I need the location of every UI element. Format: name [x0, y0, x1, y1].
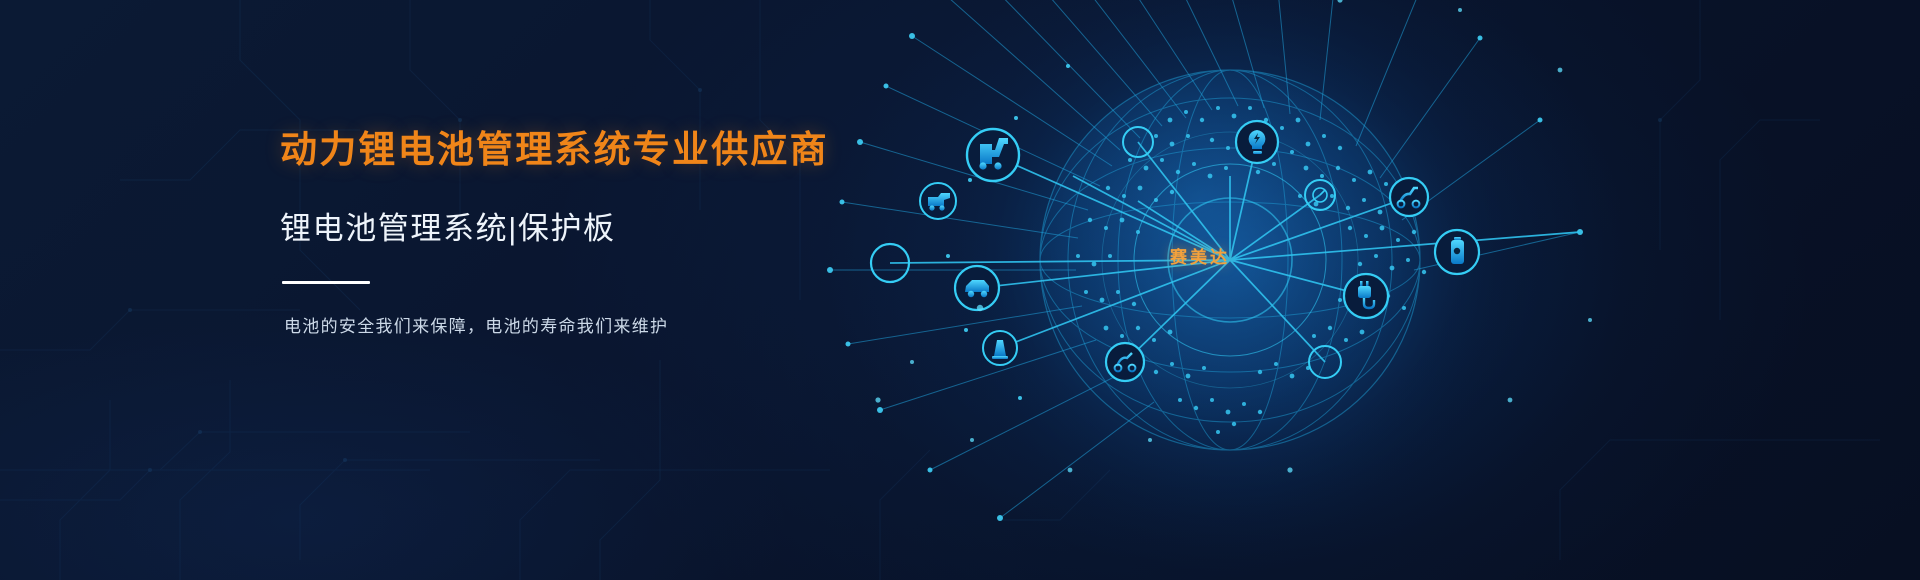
forklift-icon — [920, 183, 956, 219]
light-bulb-icon — [1236, 121, 1278, 163]
charging-pile-icon — [983, 331, 1017, 365]
electric-tricycle-icon — [967, 129, 1019, 181]
car-icon — [955, 266, 999, 310]
e-bike-icon — [1106, 343, 1144, 381]
hero-tagline: 电池的安全我们来保障，电池的寿命我们来维护 — [284, 314, 900, 340]
battery-pack-icon — [1435, 230, 1479, 274]
power-plug-icon — [1344, 274, 1388, 318]
network-globe-graphic — [820, 0, 1640, 580]
divider — [282, 281, 370, 284]
scooter-icon — [1390, 178, 1428, 216]
hero-banner: 动力锂电池管理系统专业供应商 锂电池管理系统|保护板 电池的安全我们来保障，电池… — [0, 0, 1920, 580]
hero-subheading: 锂电池管理系统|保护板 — [280, 210, 900, 247]
page-title: 动力锂电池管理系统专业供应商 — [280, 128, 900, 172]
hero-copy: 动力锂电池管理系统专业供应商 锂电池管理系统|保护板 电池的安全我们来保障，电池… — [280, 128, 900, 339]
